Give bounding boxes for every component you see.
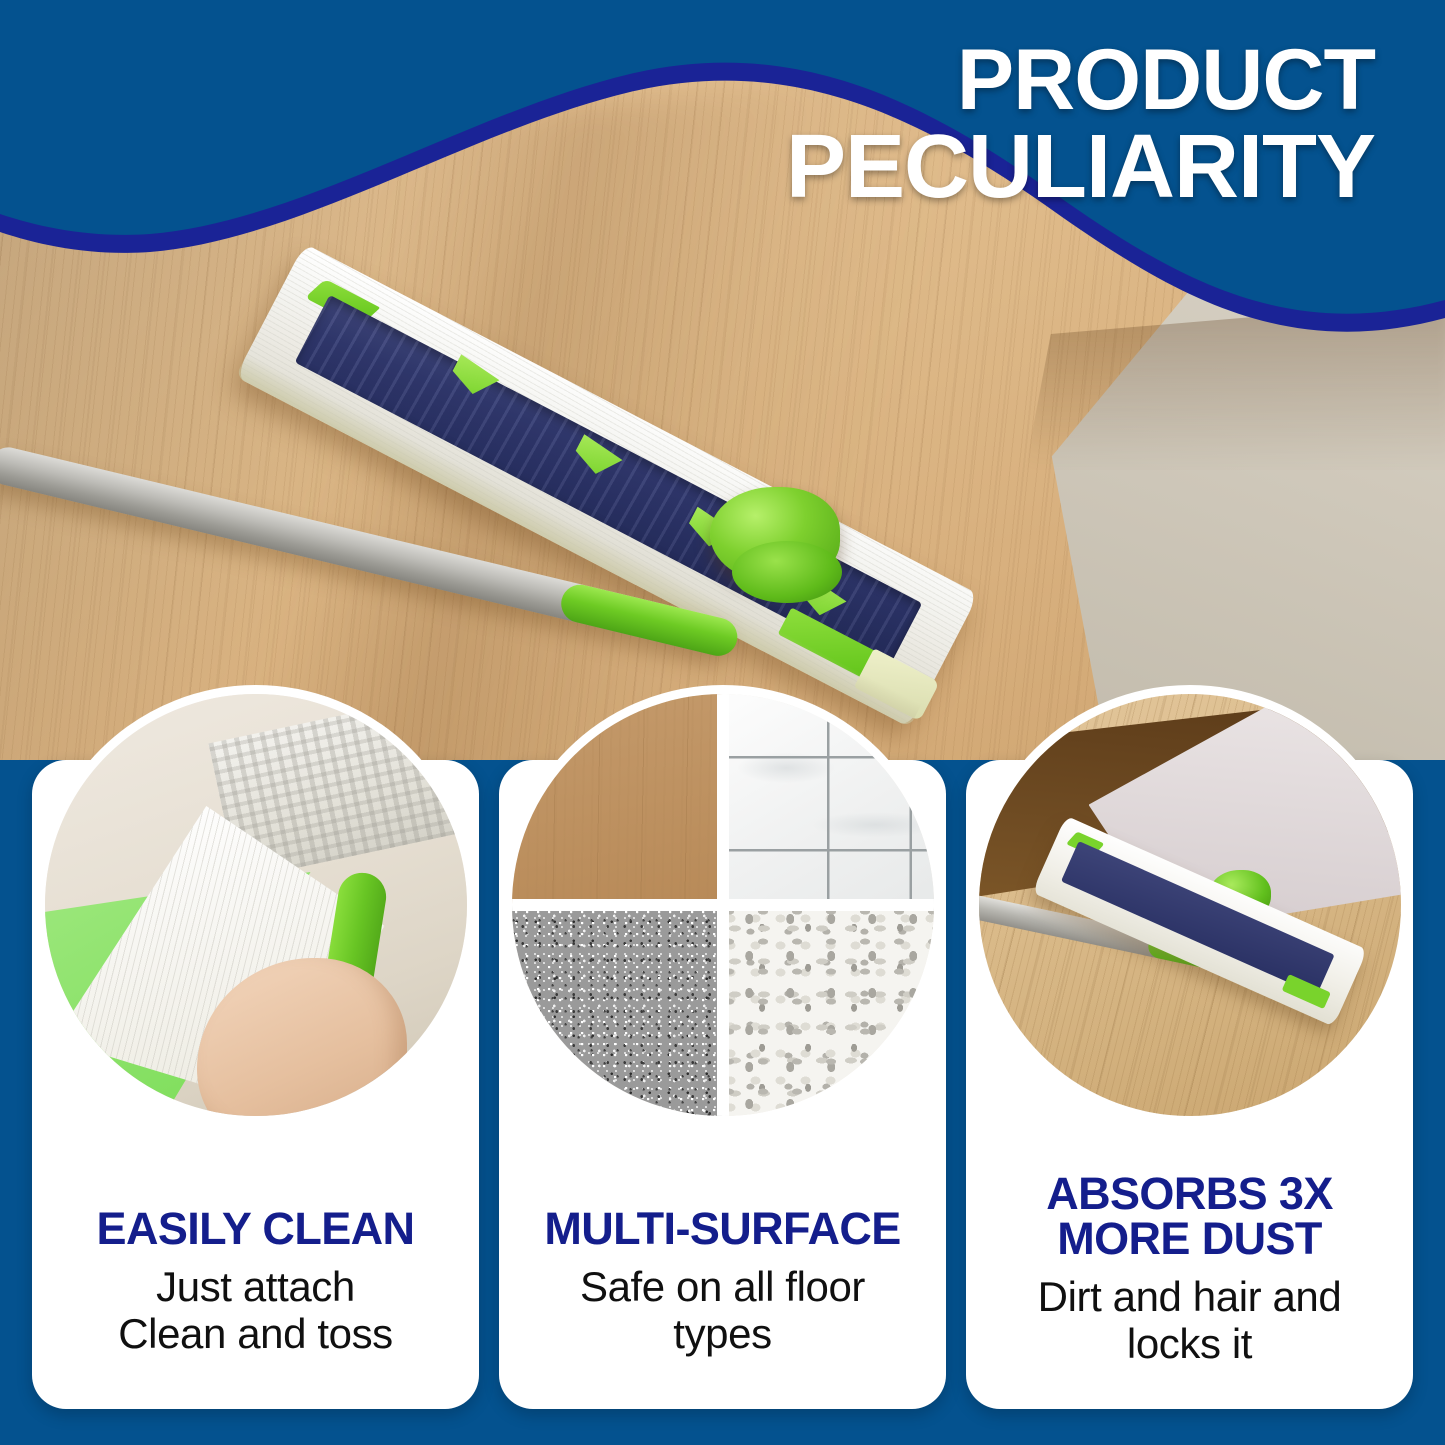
floor-quadrant-gray-stone: [512, 905, 723, 1116]
circle-image-wrapper: [503, 685, 943, 1125]
card-subtext: Dirt and hair and locks it: [988, 1273, 1391, 1367]
feature-card-multi-surface: MULTI-SURFACE Safe on all floor types: [499, 760, 946, 1409]
card-heading: EASILY CLEAN: [54, 1206, 457, 1251]
feature-cards-row: EASILY CLEAN Just attach Clean and toss …: [0, 760, 1445, 1445]
floor-quadrant-wood: [512, 694, 723, 905]
mop-swivel-disc: [732, 541, 842, 603]
hero-section: PRODUCT PECULIARITY: [0, 0, 1445, 760]
banner-title: PRODUCT PECULIARITY: [675, 38, 1375, 212]
card-heading: ABSORBS 3X MORE DUST: [988, 1171, 1391, 1261]
banner-title-line2: PECULIARITY: [675, 123, 1375, 212]
card-text-block: ABSORBS 3X MORE DUST Dirt and hair and l…: [966, 1171, 1413, 1367]
mop-pad: [235, 243, 978, 727]
floor-quadrant-terrazzo: [723, 905, 934, 1116]
four-floor-types-photo: [503, 685, 943, 1125]
feature-card-easily-clean: EASILY CLEAN Just attach Clean and toss: [32, 760, 479, 1409]
circle-image-wrapper: [970, 685, 1410, 1125]
card-text-block: MULTI-SURFACE Safe on all floor types: [499, 1206, 946, 1357]
quadrant-divider-horizontal: [512, 899, 934, 911]
card-heading: MULTI-SURFACE: [521, 1206, 924, 1251]
banner-title-line1: PRODUCT: [675, 38, 1375, 123]
circle-image-wrapper: [36, 685, 476, 1125]
floor-quadrant-marble-tile: [723, 694, 934, 905]
sofa-cushion: [1347, 685, 1410, 800]
card-subtext: Just attach Clean and toss: [54, 1263, 457, 1357]
mop-under-sofa-photo: [970, 685, 1410, 1125]
hand-peeling-pad-photo: [36, 685, 476, 1125]
card-text-block: EASILY CLEAN Just attach Clean and toss: [32, 1206, 479, 1357]
hero-mop-product: [150, 175, 1210, 755]
card-subtext: Safe on all floor types: [521, 1263, 924, 1357]
feature-card-absorbs-dust: ABSORBS 3X MORE DUST Dirt and hair and l…: [966, 760, 1413, 1409]
